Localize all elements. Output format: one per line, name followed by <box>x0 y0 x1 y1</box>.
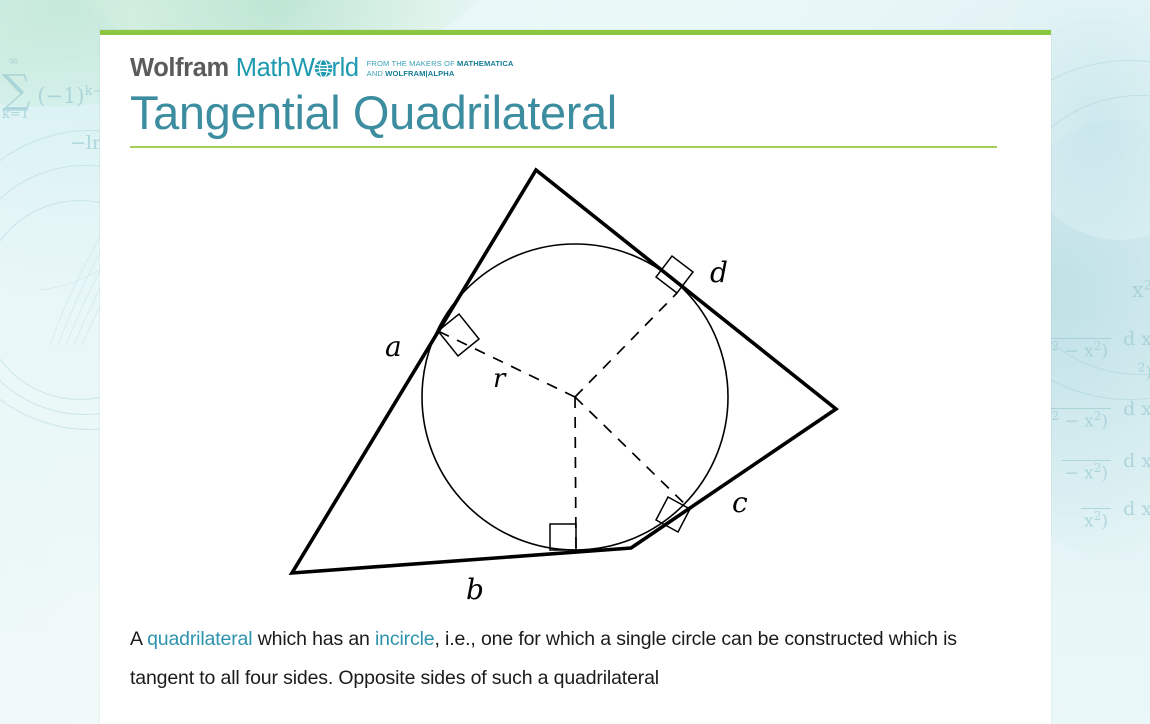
background-formula-right-6: x2) d x <box>1081 488 1150 532</box>
content-card: WolframMathW rld FROM THE MAKERS OF MATH… <box>100 30 1051 724</box>
article-paragraph: A quadrilateral which has an incircle, i… <box>130 620 1010 698</box>
background-formula-right-5: − x2) d x <box>1062 440 1150 484</box>
sum-sigma-glyph: ∞ ∑ k=1 <box>2 72 31 108</box>
logo-wolfram-text: Wolfram <box>130 54 229 82</box>
radius-to-side-c <box>575 397 690 509</box>
sum-lower-limit: k=1 <box>2 109 29 121</box>
figure-container[interactable]: a b c d r <box>130 154 1021 614</box>
paragraph-text-1: A <box>130 628 147 650</box>
paragraph-text-2: which has an <box>252 628 375 650</box>
logo-mathworld-text: MathW <box>236 54 315 82</box>
radius-lines <box>438 293 690 550</box>
sum-sigma: ∑ <box>2 67 31 113</box>
logo-wordmark: WolframMathW rld <box>130 56 359 82</box>
right-angle-mark-b <box>550 524 576 550</box>
tangential-quadrilateral-diagram[interactable]: a b c d r <box>266 154 886 614</box>
background-formula-right-4: 2 − x2) d x <box>1048 388 1150 432</box>
background-fraction: 2 − x2) <box>1048 388 1111 432</box>
background-fraction: x2) <box>1081 488 1111 532</box>
link-quadrilateral[interactable]: quadrilateral <box>147 628 252 650</box>
label-d: d <box>710 256 728 289</box>
quadrilateral-outline <box>292 170 836 573</box>
label-a: a <box>385 330 402 363</box>
logo-tagline: FROM THE MAKERS OF MATHEMATICA AND WOLFR… <box>367 59 514 81</box>
page-title: Tangential Quadrilateral <box>130 87 1021 140</box>
right-angle-mark-d <box>656 256 693 293</box>
label-r: r <box>493 364 507 394</box>
globe-icon <box>314 58 333 77</box>
background-formula-right-1: x2 <box>1132 278 1150 302</box>
card-inner: WolframMathW rld FROM THE MAKERS OF MATH… <box>100 35 1051 698</box>
site-logo[interactable]: WolframMathW rld FROM THE MAKERS OF MATH… <box>130 53 1021 81</box>
sum-term: (−1) <box>37 84 84 108</box>
background-fraction: − x2) <box>1062 440 1112 484</box>
title-divider <box>130 146 997 148</box>
logo-mathworld-tail: rld <box>332 54 359 82</box>
link-incircle[interactable]: incircle <box>375 628 434 650</box>
label-c: c <box>732 486 748 519</box>
background-formula-right-3: 2) <box>1136 360 1150 383</box>
right-angle-marks <box>438 256 693 550</box>
tagline-line-1: FROM THE MAKERS OF MATHEMATICA <box>367 59 514 69</box>
radius-to-side-a <box>438 331 575 397</box>
sum-upper-limit: ∞ <box>8 56 19 68</box>
label-b: b <box>466 573 484 606</box>
radius-to-side-d <box>575 293 677 397</box>
tagline-line-2: AND WOLFRAM|ALPHA <box>367 69 514 79</box>
background-formula-sum: ∞ ∑ k=1 (−1)k−1 <box>2 72 112 108</box>
